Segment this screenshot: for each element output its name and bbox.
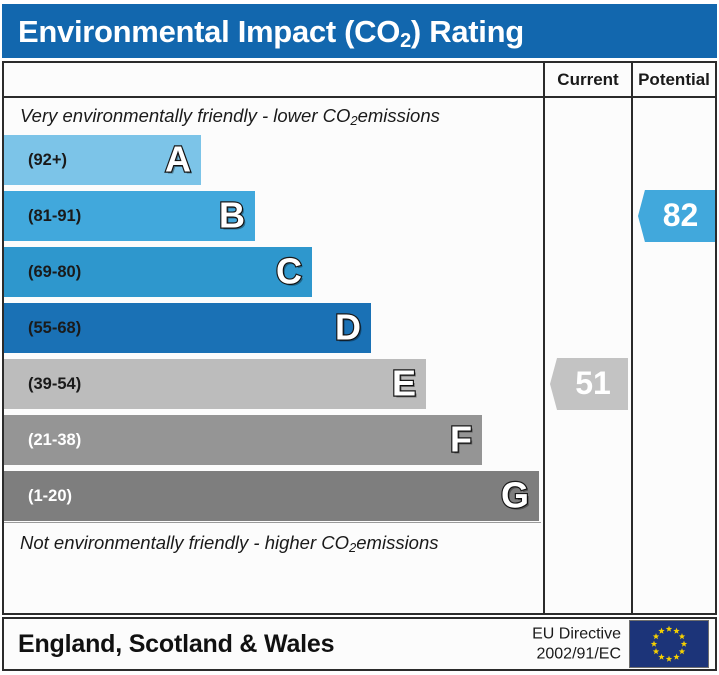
eu-star — [679, 648, 685, 654]
column-divider-current — [543, 63, 545, 613]
epc-environmental-impact-certificate: Environmental Impact (CO2) Rating Curren… — [0, 0, 719, 675]
eu-star — [673, 628, 679, 634]
rating-band-b: (81-91)B — [4, 191, 255, 241]
band-range-label: (39-54) — [4, 376, 81, 393]
rating-band-c: (69-80)C — [4, 247, 312, 297]
page-title-suffix: ) Rating — [411, 14, 524, 49]
eu-flag-icon — [629, 620, 709, 668]
caption-bottom-prefix: Not environmentally friendly - higher CO — [20, 532, 349, 554]
page-title: Environmental Impact (CO2) Rating — [2, 16, 524, 47]
band-range-label: (92+) — [4, 152, 67, 169]
caption-bottom-subscript: 2 — [349, 540, 356, 555]
band-range-label: (69-80) — [4, 264, 81, 281]
eu-star — [666, 656, 672, 662]
band-letter-b: B — [219, 197, 245, 233]
band-letter-c: C — [276, 253, 302, 289]
band-range-label: (81-91) — [4, 208, 81, 225]
rating-table: Current Potential Very environmentally f… — [2, 61, 717, 615]
rating-bands: (92+)A(81-91)B(69-80)C(55-68)D(39-54)E(2… — [4, 135, 543, 521]
band-letter-g: G — [501, 477, 529, 513]
eu-star — [658, 654, 664, 660]
eu-directive-line2: 2002/91/EC — [532, 644, 621, 664]
eu-star — [681, 641, 687, 647]
caption-not-friendly: Not environmentally friendly - higher CO… — [4, 525, 543, 561]
column-header-potential: Potential — [633, 63, 715, 96]
band-letter-a: A — [165, 141, 191, 177]
caption-bottom-suffix: emissions — [356, 532, 438, 554]
band-range-label: (21-38) — [4, 432, 81, 449]
rating-band-f: (21-38)F — [4, 415, 482, 465]
potential-rating-marker: 82 — [638, 190, 715, 242]
current-rating-marker-value: 51 — [575, 367, 611, 399]
eu-directive-label: EU Directive 2002/91/EC — [532, 624, 621, 663]
eu-star — [658, 628, 664, 634]
rating-band-e: (39-54)E — [4, 359, 426, 409]
eu-star — [679, 633, 685, 639]
eu-star — [666, 626, 672, 632]
caption-top-subscript: 2 — [350, 113, 357, 128]
caption-very-friendly: Very environmentally friendly - lower CO… — [4, 98, 543, 134]
caption-top-prefix: Very environmentally friendly - lower CO — [20, 105, 350, 127]
eu-star — [673, 654, 679, 660]
eu-star — [651, 641, 657, 647]
rating-band-a: (92+)A — [4, 135, 201, 185]
band-letter-d: D — [335, 309, 361, 345]
eu-star — [653, 648, 659, 654]
band-letter-e: E — [392, 365, 416, 401]
footer-bar: England, Scotland & Wales EU Directive 2… — [2, 617, 717, 671]
band-letter-f: F — [450, 421, 472, 457]
eu-directive-line1: EU Directive — [532, 624, 621, 644]
column-header-current: Current — [545, 63, 631, 96]
caption-bottom-divider — [4, 522, 541, 523]
band-range-label: (1-20) — [4, 488, 72, 505]
caption-top-suffix: emissions — [358, 105, 440, 127]
current-rating-marker: 51 — [550, 358, 628, 410]
rating-band-g: (1-20)G — [4, 471, 539, 521]
page-title-prefix: Environmental Impact (CO — [18, 14, 400, 49]
eu-flag-stars-svg — [630, 621, 708, 667]
eu-star — [653, 633, 659, 639]
rating-band-d: (55-68)D — [4, 303, 371, 353]
page-title-subscript: 2 — [400, 30, 411, 52]
potential-rating-marker-value: 82 — [663, 199, 699, 231]
chart-title-bar: Environmental Impact (CO2) Rating — [2, 4, 717, 58]
band-range-label: (55-68) — [4, 320, 81, 337]
footer-region-label: England, Scotland & Wales — [4, 630, 334, 659]
column-divider-potential — [631, 63, 633, 613]
